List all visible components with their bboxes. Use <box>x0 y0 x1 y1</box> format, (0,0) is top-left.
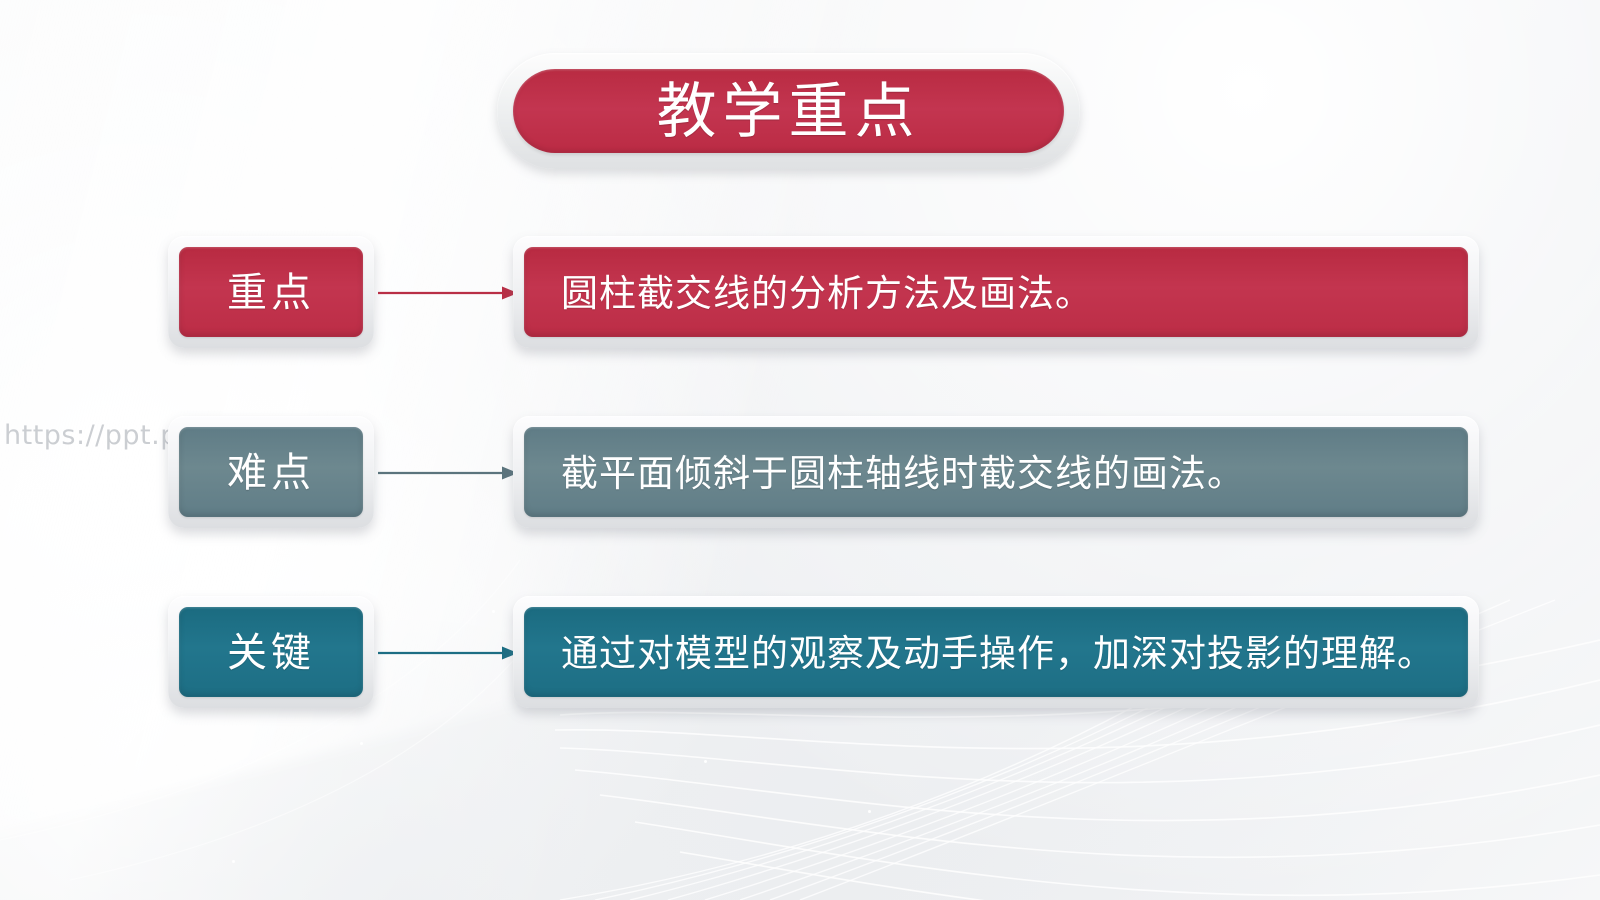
row-difficult-point: 难点 截平面倾斜于圆柱轴线时截交线的画法。 <box>0 408 1600 548</box>
label-chip-3[interactable]: 关键 <box>168 596 374 708</box>
label-chip-1[interactable]: 重点 <box>168 236 374 348</box>
arrow-3 <box>378 644 518 662</box>
arrow-1 <box>378 284 518 302</box>
content-bar-2-fill: 截平面倾斜于圆柱轴线时截交线的画法。 <box>524 427 1468 517</box>
content-bar-3-text: 通过对模型的观察及动手操作，加深对投影的理解。 <box>561 635 1435 672</box>
label-chip-3-text: 关键 <box>227 633 315 673</box>
slide-canvas: https://ppt.pkll.de 教学重点 重点 圆柱截交线的分析方法及画… <box>0 0 1600 900</box>
page-title: 教学重点 <box>657 82 921 142</box>
label-chip-1-text: 重点 <box>227 273 315 313</box>
arrow-2 <box>378 464 518 482</box>
title-pill-frame: 教学重点 <box>497 53 1080 169</box>
title-pill: 教学重点 <box>513 69 1064 153</box>
content-bar-2[interactable]: 截平面倾斜于圆柱轴线时截交线的画法。 <box>513 416 1479 528</box>
row-key-method: 关键 通过对模型的观察及动手操作，加深对投影的理解。 <box>0 588 1600 728</box>
row-key-point: 重点 圆柱截交线的分析方法及画法。 <box>0 228 1600 368</box>
label-chip-1-fill: 重点 <box>179 247 363 337</box>
content-bar-2-text: 截平面倾斜于圆柱轴线时截交线的画法。 <box>561 455 1245 492</box>
label-chip-3-fill: 关键 <box>179 607 363 697</box>
label-chip-2[interactable]: 难点 <box>168 416 374 528</box>
content-bar-1-fill: 圆柱截交线的分析方法及画法。 <box>524 247 1468 337</box>
content-bar-1[interactable]: 圆柱截交线的分析方法及画法。 <box>513 236 1479 348</box>
label-chip-2-text: 难点 <box>227 453 315 493</box>
content-bar-3[interactable]: 通过对模型的观察及动手操作，加深对投影的理解。 <box>513 596 1479 708</box>
label-chip-2-fill: 难点 <box>179 427 363 517</box>
content-bar-3-fill: 通过对模型的观察及动手操作，加深对投影的理解。 <box>524 607 1468 697</box>
content-bar-1-text: 圆柱截交线的分析方法及画法。 <box>561 275 1093 312</box>
